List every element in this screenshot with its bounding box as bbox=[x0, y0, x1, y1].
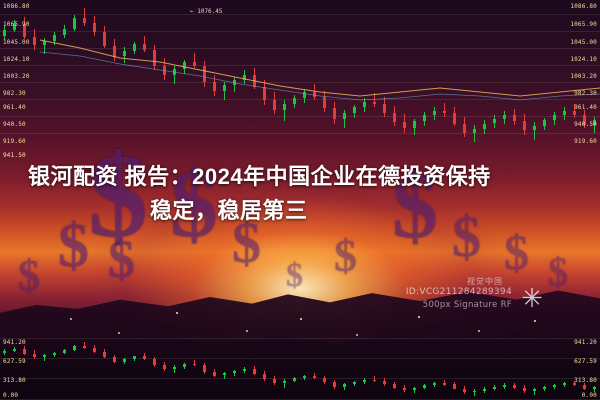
candle bbox=[283, 379, 286, 387]
moving-average-line bbox=[0, 0, 600, 150]
candle bbox=[173, 365, 176, 372]
candle bbox=[223, 372, 226, 379]
candle bbox=[473, 389, 476, 396]
candle bbox=[483, 387, 486, 393]
axis-right-label: 941.20 bbox=[574, 339, 597, 346]
axis-right-label: 1024.10 bbox=[570, 56, 597, 63]
axis-right-label: 940.50 bbox=[574, 121, 597, 128]
candle bbox=[313, 373, 316, 380]
candle bbox=[73, 345, 76, 352]
image-canvas: 1086.80 1065.90 1045.00 1024.10 1003.20 … bbox=[0, 0, 600, 400]
candle bbox=[43, 354, 46, 361]
axis-left-label: 940.50 bbox=[3, 121, 26, 128]
candle bbox=[373, 376, 376, 382]
candle bbox=[243, 367, 246, 373]
candle bbox=[343, 383, 346, 390]
candle bbox=[523, 385, 526, 393]
headline-line-1: 银河配资 报告：2024年中国企业在德投资保持 bbox=[0, 160, 600, 194]
candle bbox=[383, 378, 386, 386]
candle bbox=[333, 380, 336, 389]
axis-left-label: 982.30 bbox=[3, 90, 26, 97]
axis-right-label: 627.59 bbox=[574, 358, 597, 365]
candle bbox=[503, 383, 506, 388]
candle bbox=[183, 363, 186, 369]
candle bbox=[153, 357, 156, 367]
candle bbox=[213, 369, 216, 377]
axis-left-label: 941.20 bbox=[3, 339, 26, 346]
candle bbox=[133, 356, 136, 361]
candle bbox=[143, 353, 146, 360]
candle bbox=[193, 360, 196, 366]
bottom-candlestick-chart: 941.20 627.59 313.80 0.00 941.20 627.59 … bbox=[0, 338, 600, 400]
axis-right-label: 313.80 bbox=[574, 377, 597, 384]
candle bbox=[583, 383, 586, 390]
axis-left-label: 0.00 bbox=[3, 392, 18, 399]
candle bbox=[233, 370, 236, 376]
candle bbox=[363, 378, 366, 384]
candlestick-series bbox=[0, 338, 600, 400]
candle bbox=[533, 388, 536, 395]
candle bbox=[253, 366, 256, 374]
candle bbox=[123, 358, 126, 365]
candle bbox=[493, 385, 496, 390]
top-candlestick-chart: 1086.80 1065.90 1045.00 1024.10 1003.20 … bbox=[0, 0, 600, 150]
candle bbox=[553, 384, 556, 389]
candle bbox=[103, 349, 106, 358]
axis-left-label: 1003.20 bbox=[3, 73, 30, 80]
axis-right-label: 919.60 bbox=[574, 138, 597, 145]
candle bbox=[543, 386, 546, 391]
axis-right-label: 1086.80 bbox=[570, 3, 597, 10]
candle bbox=[303, 375, 306, 381]
candle bbox=[113, 355, 116, 364]
candle bbox=[293, 377, 296, 383]
candle bbox=[273, 376, 276, 385]
candle bbox=[453, 382, 456, 389]
axis-left-label: 313.80 bbox=[3, 377, 26, 384]
axis-right-label: 1045.00 bbox=[570, 39, 597, 46]
axis-left-label-extra: 941.50 bbox=[3, 152, 26, 159]
headline-prefix: 银河配资 bbox=[28, 164, 118, 189]
axis-left-label: 1045.00 bbox=[3, 39, 30, 46]
axis-right-label: 1065.90 bbox=[570, 21, 597, 28]
watermark-brand-cn: 视觉中国 bbox=[467, 276, 503, 287]
candle bbox=[203, 363, 206, 373]
axis-left-label: 919.60 bbox=[3, 138, 26, 145]
watermark-license: 500px Signature RF bbox=[423, 300, 512, 310]
axis-right-label: 982.30 bbox=[574, 90, 597, 97]
axis-left-label: 627.59 bbox=[3, 358, 26, 365]
candle bbox=[403, 385, 406, 392]
candle bbox=[63, 349, 66, 354]
watermark-id: ID:VCG211284289394 bbox=[406, 287, 512, 297]
candle bbox=[23, 346, 26, 355]
axis-left-label: 1086.80 bbox=[3, 3, 30, 10]
watermark-logo: ✳ bbox=[519, 285, 545, 311]
candle bbox=[323, 376, 326, 384]
candle bbox=[353, 381, 356, 386]
candle bbox=[393, 382, 396, 390]
axis-left-label: 961.40 bbox=[3, 104, 26, 111]
price-annotation: ← 1076.45 bbox=[190, 8, 223, 15]
axis-right-label: 1003.20 bbox=[570, 73, 597, 80]
candle bbox=[443, 380, 446, 386]
asterisk-star-icon: ✳ bbox=[519, 285, 545, 311]
candle bbox=[3, 349, 6, 355]
axis-right-label: 0.00 bbox=[582, 392, 597, 399]
headline-line-2: 稳定，稳居第三 bbox=[0, 194, 600, 228]
axis-right-label: 961.40 bbox=[574, 104, 597, 111]
candle bbox=[83, 342, 86, 349]
axis-left-label: 1065.90 bbox=[3, 21, 30, 28]
candle bbox=[163, 362, 166, 371]
candle bbox=[263, 371, 266, 381]
candle bbox=[563, 382, 566, 387]
candle bbox=[53, 352, 56, 357]
headline-main-1: 报告：2024年中国企业在德投资保持 bbox=[125, 164, 491, 189]
headline-block: 银河配资 报告：2024年中国企业在德投资保持 稳定，稳居第三 bbox=[0, 160, 600, 228]
candle bbox=[93, 345, 96, 353]
candle bbox=[433, 382, 436, 387]
candle bbox=[413, 387, 416, 394]
candle bbox=[33, 350, 36, 358]
candle bbox=[13, 347, 16, 352]
axis-left-label: 1024.10 bbox=[3, 56, 30, 63]
candle bbox=[423, 384, 426, 390]
candle bbox=[463, 386, 466, 394]
candle bbox=[513, 383, 516, 390]
